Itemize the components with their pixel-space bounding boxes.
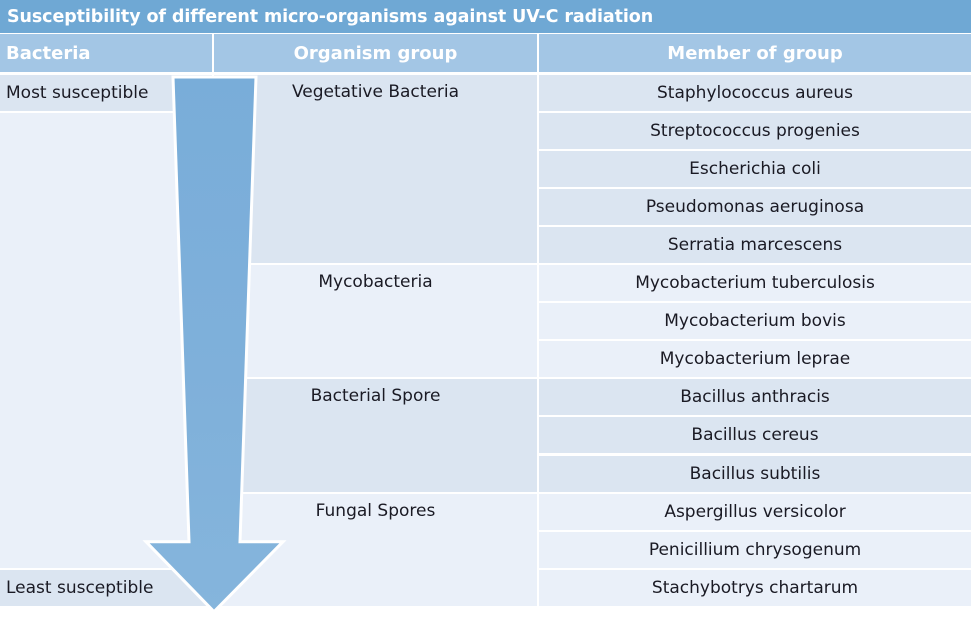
member-name: Escherichia coli [689, 159, 821, 179]
column-bacteria-cells: Most susceptibleLeast susceptible [0, 75, 212, 609]
organism-group-name: Bacterial Spore [311, 386, 441, 406]
member-row: Mycobacterium tuberculosis [539, 265, 971, 301]
organism-group-name: Fungal Spores [316, 501, 436, 521]
member-name: Stachybotrys chartarum [652, 578, 858, 598]
figure-title-bar: Susceptibility of different micro-organi… [0, 0, 971, 33]
column-header-organism-group-label: Organism group [294, 43, 458, 64]
column-header-bacteria-label: Bacteria [6, 43, 91, 64]
most-susceptible-cell-label: Most susceptible [6, 83, 148, 103]
member-name: Aspergillus versicolor [664, 502, 845, 522]
column-header-member-of-group: Member of group [539, 34, 971, 72]
organism-group-name: Mycobacteria [318, 272, 432, 292]
member-name: Streptococcus progenies [650, 121, 860, 141]
column-header-member-of-group-label: Member of group [667, 43, 842, 64]
most-susceptible-cell: Most susceptible [0, 75, 212, 111]
member-name: Mycobacterium tuberculosis [635, 273, 875, 293]
member-row: Stachybotrys chartarum [539, 570, 971, 606]
organism-group-cell: Vegetative Bacteria [214, 75, 537, 263]
organism-group-cell: Mycobacteria [214, 265, 537, 377]
member-name: Serratia marcescens [668, 235, 842, 255]
table-header-row: Bacteria Organism group Member of group [0, 34, 971, 72]
organism-group-name: Vegetative Bacteria [292, 82, 459, 102]
member-row: Staphylococcus aureus [539, 75, 971, 111]
member-row: Streptococcus progenies [539, 113, 971, 149]
member-name: Bacillus subtilis [690, 464, 821, 484]
member-name: Staphylococcus aureus [657, 83, 853, 103]
column-header-organism-group: Organism group [214, 34, 537, 72]
column-member-cells: Staphylococcus aureusStreptococcus proge… [539, 75, 971, 609]
member-name: Pseudomonas aeruginosa [646, 197, 864, 217]
column-organism-group-cells: Vegetative BacteriaMycobacteriaBacterial… [214, 75, 537, 609]
member-row: Bacillus cereus [539, 417, 971, 453]
column-header-bacteria: Bacteria [0, 34, 212, 72]
least-susceptible-cell-label: Least susceptible [6, 578, 153, 598]
member-name: Mycobacterium leprae [660, 349, 850, 369]
member-row: Bacillus subtilis [539, 456, 971, 492]
member-row: Bacillus anthracis [539, 379, 971, 415]
organism-group-cell: Bacterial Spore [214, 379, 537, 491]
member-row: Aspergillus versicolor [539, 494, 971, 530]
member-row: Penicillium chrysogenum [539, 532, 971, 568]
figure-title: Susceptibility of different micro-organi… [0, 7, 653, 27]
organism-group-cell: Fungal Spores [214, 494, 537, 606]
member-name: Bacillus anthracis [680, 387, 830, 407]
member-name: Bacillus cereus [691, 425, 818, 445]
susceptibility-spacer-cell [0, 113, 212, 568]
member-row: Escherichia coli [539, 151, 971, 187]
member-name: Mycobacterium bovis [664, 311, 845, 331]
member-row: Pseudomonas aeruginosa [539, 189, 971, 225]
member-row: Mycobacterium bovis [539, 303, 971, 339]
table-figure: Susceptibility of different micro-organi… [0, 0, 971, 622]
member-name: Penicillium chrysogenum [649, 540, 861, 560]
member-row: Mycobacterium leprae [539, 341, 971, 377]
table-body: Most susceptibleLeast susceptible Vegeta… [0, 75, 971, 609]
member-row: Serratia marcescens [539, 227, 971, 263]
least-susceptible-cell: Least susceptible [0, 570, 212, 606]
